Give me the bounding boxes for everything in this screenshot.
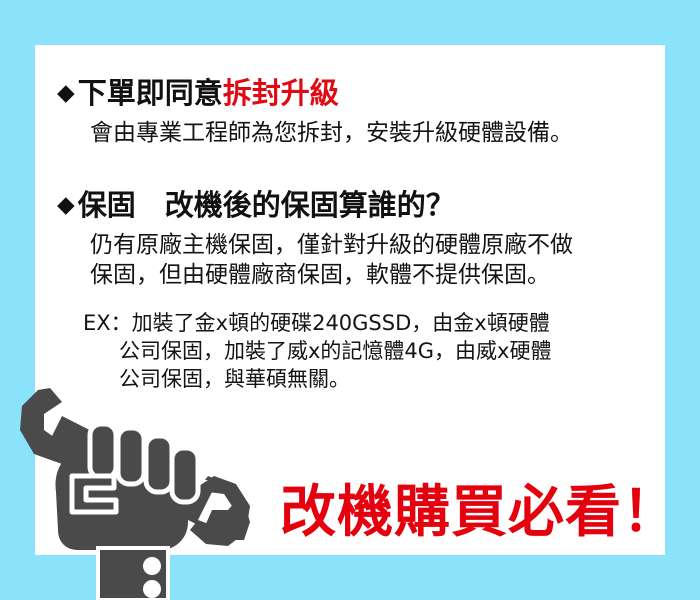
section-1-body: 會由專業工程師為您拆封，安裝升級硬體設備。: [35, 118, 665, 148]
section-2-body-line-1: 仍有原廠主機保固，僅針對升級的硬體原廠不做: [35, 230, 665, 260]
fist-holding-wrench-icon: [0, 380, 280, 600]
section-1-heading: ◆下單即同意拆封升級: [35, 75, 665, 111]
text-content: ◆下單即同意拆封升級 會由專業工程師為您拆封，安裝升級硬體設備。 ◆保固 改機後…: [35, 45, 665, 394]
example-line-2: 公司保固，加裝了威x的記憶體4G，由威x硬體: [83, 337, 665, 365]
example-line-1: EX：加裝了金x頓的硬碟240GSSD，由金x頓硬體: [83, 309, 665, 337]
poster: ◆下單即同意拆封升級 會由專業工程師為您拆封，安裝升級硬體設備。 ◆保固 改機後…: [0, 0, 700, 600]
section-divider-space: [35, 153, 665, 187]
section-2-heading: ◆保固 改機後的保固算誰的？: [35, 187, 665, 223]
section-unboxing-upgrade: ◆下單即同意拆封升級 會由專業工程師為您拆封，安裝升級硬體設備。: [35, 75, 665, 149]
section-1-heading-plain: 下單即同意: [78, 76, 223, 110]
diamond-bullet-icon: ◆: [57, 79, 75, 108]
section-warranty: ◆保固 改機後的保固算誰的？ 仍有原廠主機保固，僅針對升級的硬體原廠不做 保固，…: [35, 187, 665, 291]
section-2-heading-plain: 保固 改機後的保固算誰的？: [78, 188, 455, 222]
section-2-body-line-2: 保固，但由硬體廠商保固，軟體不提供保固。: [35, 260, 665, 290]
section-1-heading-accent: 拆封升級: [223, 76, 339, 110]
diamond-bullet-icon: ◆: [57, 191, 75, 220]
slogan-text: 改機購買必看！: [280, 485, 665, 541]
